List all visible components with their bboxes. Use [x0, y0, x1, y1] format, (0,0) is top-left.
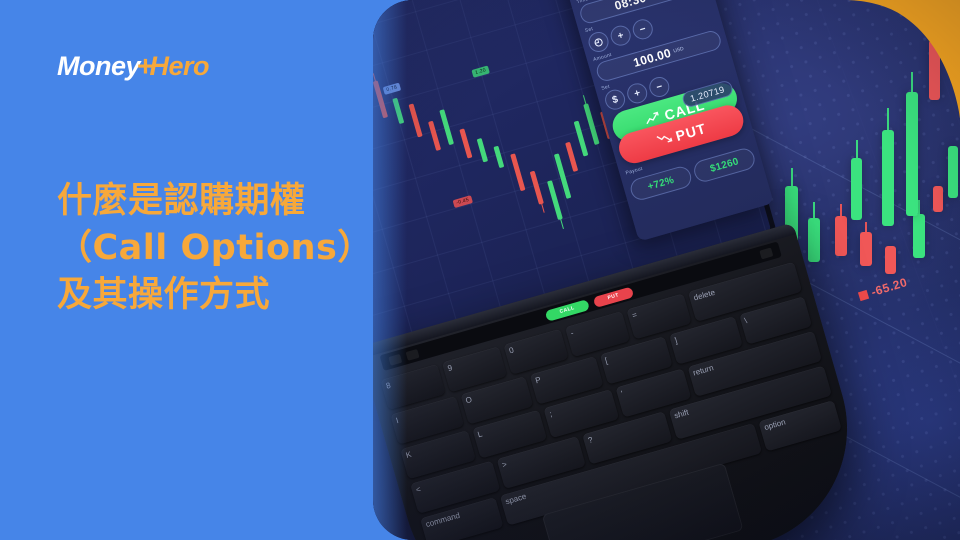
chart-marker-icon [858, 290, 869, 301]
orange-corner-accent [840, 0, 960, 118]
left-content-panel: Money + Hero 什麼是認購期權（Call Options）及其操作方式 [0, 0, 390, 540]
currency-button[interactable]: $ [603, 87, 628, 112]
put-label: PUT [674, 120, 708, 144]
touchbar-key[interactable] [388, 353, 402, 365]
touchbar-key[interactable] [759, 247, 773, 259]
slide-canvas: -65.20 [0, 0, 960, 540]
amount-increase-button[interactable]: + [625, 81, 650, 106]
logo-hero-text: Hero [149, 51, 209, 82]
time-increase-button[interactable]: + [608, 23, 633, 48]
amount-decrease-button[interactable]: − [647, 75, 672, 100]
currency-code: USD [673, 46, 685, 55]
touchbar-key[interactable] [405, 348, 419, 360]
time-decrease-button[interactable]: − [630, 17, 655, 42]
moneyhero-logo[interactable]: Money + Hero [57, 50, 209, 83]
page-title: 什麼是認購期權（Call Options）及其操作方式 [57, 178, 357, 319]
plus-icon: + [137, 51, 153, 84]
chart-value-label: -65.20 [857, 275, 909, 303]
clock-icon[interactable]: ◴ [586, 30, 611, 55]
chart-value-text: -65.20 [869, 275, 909, 299]
trend-down-icon [655, 132, 672, 147]
logo-money-text: Money [57, 51, 140, 82]
